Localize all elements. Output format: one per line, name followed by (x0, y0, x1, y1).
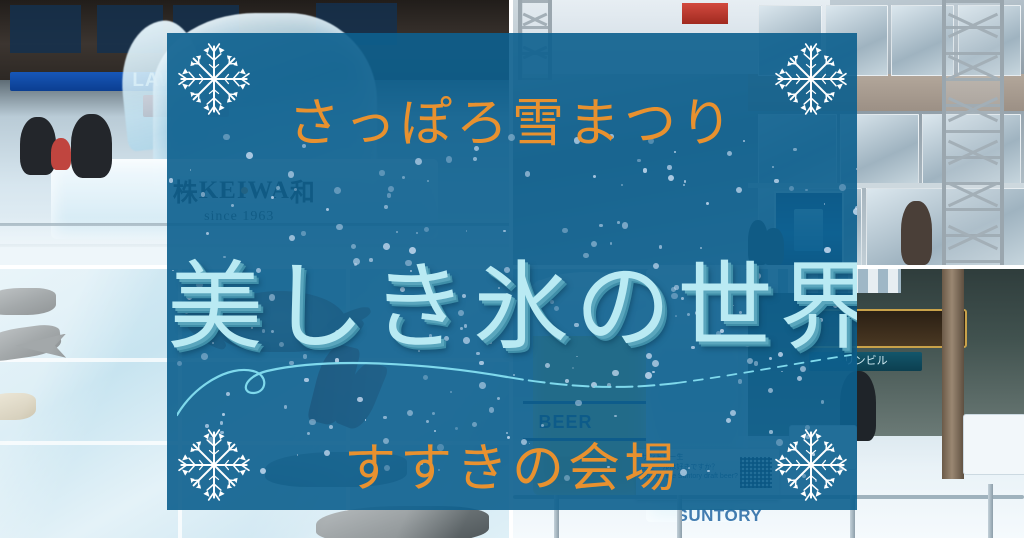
pedestrian (51, 138, 71, 170)
festival-headline: さっぽろ雪まつり (167, 81, 857, 156)
pedestrian (71, 114, 112, 178)
red-sign (682, 3, 728, 24)
venue-label: すすきの会場 (167, 426, 857, 501)
main-title: 美しき氷の世界 (167, 229, 857, 368)
shop-window (10, 5, 81, 53)
rail-post (988, 484, 993, 538)
patio-chair (963, 414, 1024, 475)
swoosh-line-icon (177, 349, 855, 421)
snow-festival-poster: LAWSON 株 KEIWA 和 since 1963 (0, 0, 1024, 538)
tree-trunk (942, 269, 964, 479)
poster-overlay-panel: さっぽろ雪まつり 2025 美しき氷の世界 すすきの会場 (167, 33, 857, 510)
pedestrian (20, 117, 56, 175)
pedestrian (901, 201, 932, 265)
scaffolding-tower (942, 0, 1004, 265)
